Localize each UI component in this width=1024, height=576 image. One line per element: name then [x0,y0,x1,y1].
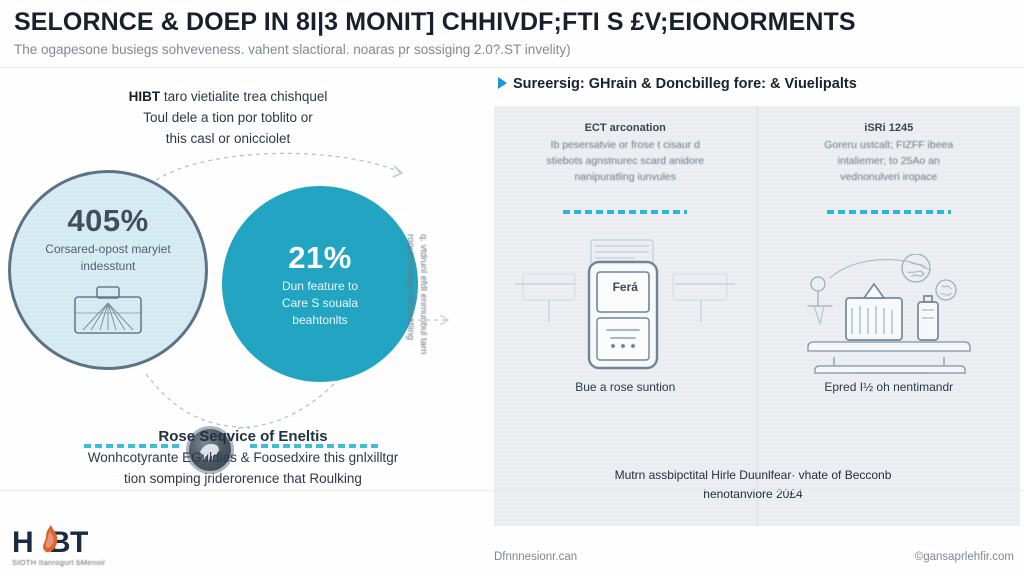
stat-secondary-caption-line-2: Care S souala [245,295,395,312]
left-lead-text: HIBT taro vietialite trea chishquel Toul… [18,86,438,149]
vertical-side-note: q. vtdrunl efdl enmunbul tarn roquimncti… [404,234,430,424]
comparison-cards: ECT arconation Ib pesersatvie or frose t… [494,106,1020,526]
card-2-caption: Epred I½ oh nentimandr [758,380,1021,394]
left-lead-brand: HIBT [129,89,161,104]
flame-icon [40,525,60,555]
card-1-figure-label: Ferá [613,280,638,294]
stat-primary-caption-line-2: indesstunt [23,258,193,275]
stat-circle-secondary[interactable]: 21% Dun feature to Care S souala beahton… [222,186,418,382]
left-lead-line-3: this casl or onicciolet [18,128,438,149]
card-1-body: Ib pesersatvie or frose t cisaur d stieb… [506,137,745,185]
logo-wordmark: H BT [12,528,105,558]
right-footer-line-2: henotanviore 20£4 [490,485,1016,504]
stat-circle-secondary-value: 21% [288,240,352,276]
card-1-body-line-2: stiebots agnstnurec scard anidore [506,153,745,169]
card-1-caption: Bue a rose suntion [494,380,757,394]
left-footer-title: Rose Seqvice of Eneltis [18,426,468,447]
comparison-card-1[interactable]: ECT arconation Ib pesersatvie or frose t… [494,106,757,526]
phone-device-sketch-icon: Ferá [513,238,737,378]
card-2-body-line-2: intaliemer; to 25Ao an [770,153,1009,169]
right-panel-title: Sureersig: GHrain & Doncbilleg fore: & V… [498,76,857,92]
right-footer-line-1: Mutrn assbipctital Hirle Duunlfear· vhat… [490,466,1016,485]
stat-primary-caption-line-1: Corsared-opost maryiet [23,241,193,258]
card-1-accent-divider [563,210,687,214]
basket-sketch-icon [71,283,145,337]
stat-circle-primary-caption: Corsared-opost maryiet indesstunt [23,241,193,275]
card-2-heading: iSRi 1245 [770,120,1009,136]
left-footer-line-1: Wonhcotyrante EGuldies & Foosedxire this… [18,447,468,468]
card-2-body: Goreru ustcalt; FIZFF ibeea intaliemer; … [770,137,1009,185]
left-lead-line-1: HIBT taro vietialite trea chishquel [18,86,438,107]
stat-circle-secondary-caption: Dun feature to Care S souala beahtonlts [245,278,395,329]
connector-top-dashed [150,146,450,186]
lab-equipment-sketch-icon [784,254,994,379]
right-footer-text: Mutrn assbipctital Hirle Duunlfear· vhat… [490,466,1016,504]
page-header: SELORNCE & DOEP IN 8I|3 MONIT] CHHIVDF;F… [0,0,1024,68]
comparison-card-2[interactable]: iSRi 1245 Goreru ustcalt; FIZFF ibeea in… [757,106,1021,526]
vertical-note-line-2: roquimncting nilniccatiing [404,234,417,424]
logo-tagline: SIOTH Itanrogurt bMenoir [12,558,105,567]
stat-secondary-caption-line-1: Dun feature to [245,278,395,295]
logo-word-left: H [12,526,33,559]
page-subtitle: The ogapesone busiegs sohveveness. vahen… [14,41,1010,59]
footer-source-right: ©gansaprlehfir.com [915,551,1014,563]
card-2-body-line-1: Goreru ustcalt; FIZFF ibeea [770,137,1009,153]
infographic-page: SELORNCE & DOEP IN 8I|3 MONIT] CHHIVDF;F… [0,0,1024,576]
left-panel: HIBT taro vietialite trea chishquel Toul… [0,68,490,576]
left-footer-text: Rose Seqvice of Eneltis Wonhcotyrante EG… [18,426,468,489]
footer-source-left: Dfnnnesionr.can [494,551,577,563]
right-panel-title-text: Sureersig: GHrain & Doncbilleg fore: & V… [513,76,857,92]
page-title: SELORNCE & DOEP IN 8I|3 MONIT] CHHIVDF;F… [14,6,1010,38]
stat-circle-primary-value: 405% [67,203,148,239]
card-1-heading: ECT arconation [506,120,745,136]
stat-secondary-caption-line-3: beahtonlts [245,312,395,329]
right-panel: Sureersig: GHrain & Doncbilleg fore: & V… [490,68,1024,576]
vertical-note-line-1: q. vtdrunl efdl enmunbul tarn [417,234,430,424]
triangle-right-icon [498,77,507,89]
brand-logo[interactable]: H BT SIOTH Itanrogurt bMenoir [12,528,105,572]
card-1-body-line-1: Ib pesersatvie or frose t cisaur d [506,137,745,153]
stat-circle-primary[interactable]: 405% Corsared-opost maryiet indesstunt [8,170,208,370]
footer-divider [0,490,1024,491]
left-lead-line-2: Toul dele a tion por toblito or [18,107,438,128]
card-2-body-line-3: vednonulveri iropace [770,169,1009,185]
card-1-body-line-3: nanipuratling iunvules [506,169,745,185]
left-footer-line-2: tion somping jriderorenıce that Roulking [18,468,468,489]
left-lead-line-1-rest: taro vietialite trea chishquel [160,89,327,104]
card-2-accent-divider [827,210,951,214]
